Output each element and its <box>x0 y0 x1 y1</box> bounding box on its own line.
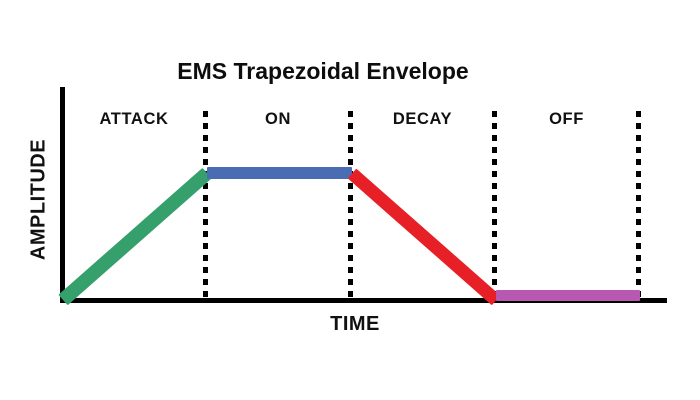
phase-divider-3 <box>492 111 497 301</box>
phase-divider-1 <box>203 111 208 301</box>
y-axis-label: AMPLITUDE <box>28 120 51 280</box>
phase-label-off: OFF <box>497 110 636 129</box>
envelope-segment-on <box>207 167 351 179</box>
phase-label-attack: ATTACK <box>65 110 203 129</box>
phase-divider-2 <box>348 111 353 301</box>
phase-label-on: ON <box>208 110 348 129</box>
phase-divider-4 <box>636 111 641 301</box>
chart-canvas: EMS Trapezoidal Envelope AMPLITUDE TIME … <box>0 0 700 400</box>
phase-label-decay: DECAY <box>353 110 492 129</box>
chart-title: EMS Trapezoidal Envelope <box>0 60 646 83</box>
envelope-segment-off <box>496 290 640 301</box>
envelope-segment-decay <box>347 168 500 305</box>
x-axis-label: TIME <box>275 313 435 336</box>
envelope-segment-attack <box>58 168 211 306</box>
